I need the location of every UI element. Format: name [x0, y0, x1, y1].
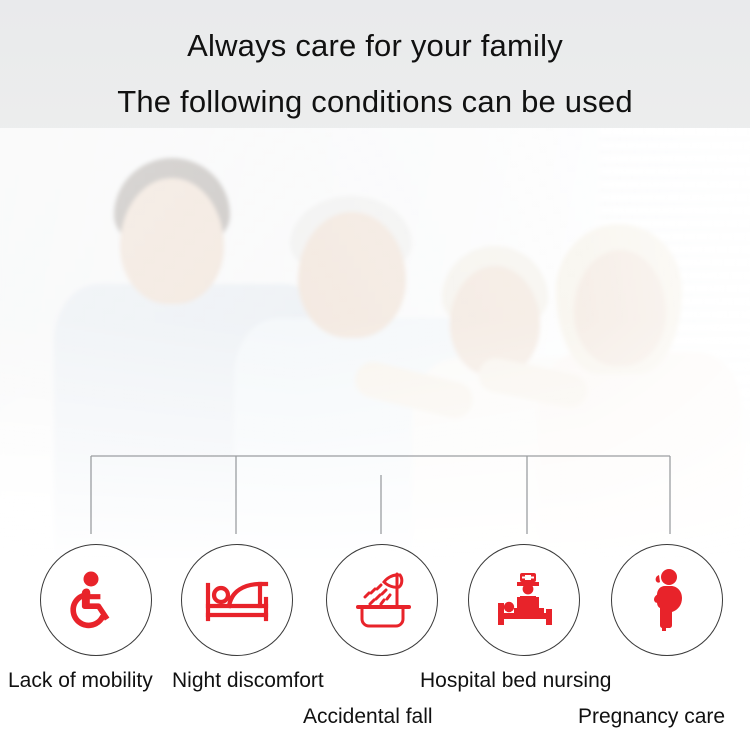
wheelchair-icon — [64, 568, 128, 632]
shower-bathtub-icon — [350, 569, 414, 631]
promo-banner: Always care for your family The followin… — [0, 0, 750, 750]
icon-circle-hospital-bed-nursing[interactable] — [468, 544, 580, 656]
caption-night-discomfort: Night discomfort — [172, 668, 324, 693]
caption-accidental-fall: Accidental fall — [303, 704, 433, 729]
connector-bracket — [0, 440, 750, 550]
icon-circle-night-discomfort[interactable] — [181, 544, 293, 656]
nurse-bedside-icon — [490, 569, 558, 631]
pregnant-woman-icon — [642, 568, 692, 632]
icon-circle-lack-of-mobility[interactable] — [40, 544, 152, 656]
headline-block: Always care for your family The followin… — [0, 24, 750, 124]
caption-hospital-bed-nursing: Hospital bed nursing — [420, 668, 611, 693]
icon-circle-accidental-fall[interactable] — [326, 544, 438, 656]
caption-pregnancy-care: Pregnancy care — [578, 704, 725, 729]
person-in-bed-icon — [204, 575, 270, 625]
icon-circle-pregnancy-care[interactable] — [611, 544, 723, 656]
caption-lack-of-mobility: Lack of mobility — [8, 668, 153, 693]
icon-circle-row — [0, 540, 750, 660]
headline-line-2: The following conditions can be used — [0, 80, 750, 124]
headline-line-1: Always care for your family — [0, 24, 750, 68]
